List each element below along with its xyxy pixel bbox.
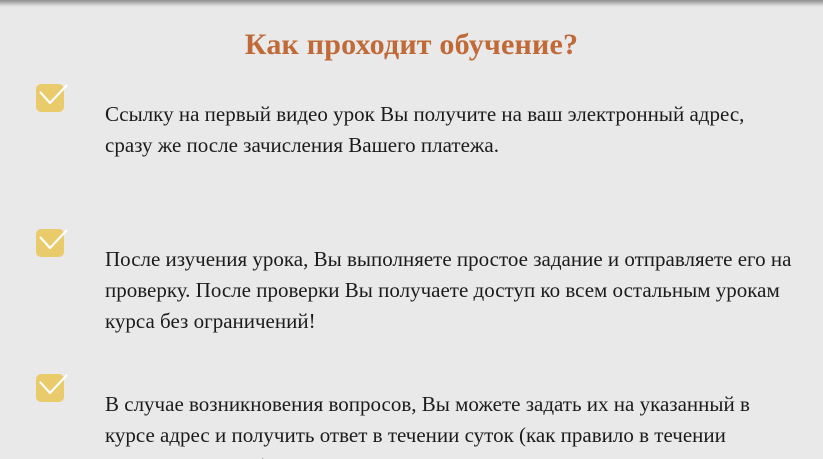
page-title: Как проходит обучение? — [0, 26, 823, 64]
list-item: Ссылку на первый видео урок Вы получите … — [0, 70, 823, 182]
list-item: После изучения урока, Вы выполняете прос… — [0, 182, 823, 358]
list-item: В случае возникновения вопросов, Вы може… — [0, 358, 823, 459]
bullet-icon-cell — [0, 70, 69, 112]
list-item-text: Ссылку на первый видео урок Вы получите … — [69, 91, 823, 161]
list-item-text: После изучения урока, Вы выполняете прос… — [69, 203, 823, 337]
slide-canvas: Как проходит обучение? Ссылку на первый … — [0, 0, 823, 459]
bullet-list: Ссылку на первый видео урок Вы получите … — [0, 70, 823, 459]
top-gradient-band — [0, 0, 823, 7]
bullet-icon-cell — [0, 182, 69, 257]
envelope-icon — [36, 229, 64, 257]
envelope-icon — [36, 374, 64, 402]
envelope-icon — [36, 84, 64, 112]
bullet-icon-cell — [0, 358, 69, 402]
list-item-text: В случае возникновения вопросов, Вы може… — [69, 379, 823, 459]
